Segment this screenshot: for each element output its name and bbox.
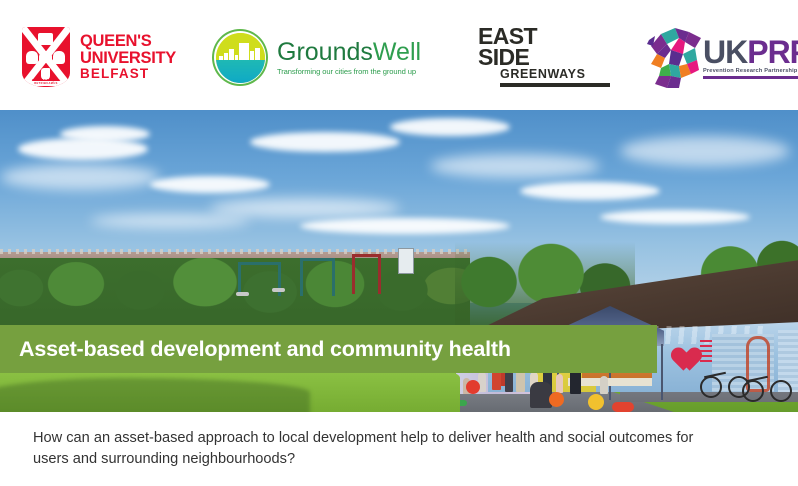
page-title: Asset-based development and community he… [0,337,511,362]
ukprp-wordmark: UKPRP Prevention Research Partnership [703,37,798,80]
qub-wordmark: QUEEN'S UNIVERSITY BELFAST [80,33,176,80]
ukprp-underline-rule [703,76,798,80]
groundswell-wordmark: GroundsWell Transforming our cities from… [277,40,421,76]
ukprp-word-uk: UK [703,34,747,70]
mural-heartbeat-icon [700,340,712,364]
logo-groundswell: GroundsWell Transforming our cities from… [211,28,421,88]
ukprp-word-prp: PRP [747,34,798,70]
qub-line1: QUEEN'S [80,33,176,50]
logo-queens-university-belfast: PRO TANTO QUID RETRIBUAMUS QUEEN'S UNIVE… [22,27,176,87]
logo-east-side-greenways: EAST SIDE GREENWAYS [478,26,610,87]
photo-pram [530,382,552,408]
title-banner: Asset-based development and community he… [0,325,657,373]
mural-heart-icon [666,338,694,363]
photo-info-board [398,248,414,274]
groundswell-word-well: Well [373,38,421,66]
logo-bar: PRO TANTO QUID RETRIBUAMUS QUEEN'S UNIVE… [0,0,798,110]
slide-caption: How can an asset-based approach to local… [33,428,723,470]
qub-line2: UNIVERSITY [80,50,176,67]
photo-grass-shadow [0,378,310,412]
ukprp-subtitle: Prevention Research Partnership [703,68,798,74]
logo-ukprp: UKPRP Prevention Research Partnership [645,24,798,92]
esg-line2: SIDE [478,47,610,68]
shield-crest-icon: PRO TANTO QUID RETRIBUAMUS [22,27,70,87]
esg-underline-rule [500,83,610,87]
groundswell-tagline: Transforming our cities from the ground … [277,67,421,76]
groundswell-word-grounds: Grounds [277,38,373,66]
crest-motto: PRO TANTO QUID RETRIBUAMUS [22,79,70,85]
uk-map-mosaic-icon [645,24,707,92]
esg-line3: GREENWAYS [500,69,610,81]
east-side-greenways-wordmark: EAST SIDE GREENWAYS [478,26,610,87]
slide-root: PRO TANTO QUID RETRIBUAMUS QUEEN'S UNIVE… [0,0,798,486]
city-globe-icon [211,28,269,88]
qub-line3: BELFAST [80,67,176,81]
